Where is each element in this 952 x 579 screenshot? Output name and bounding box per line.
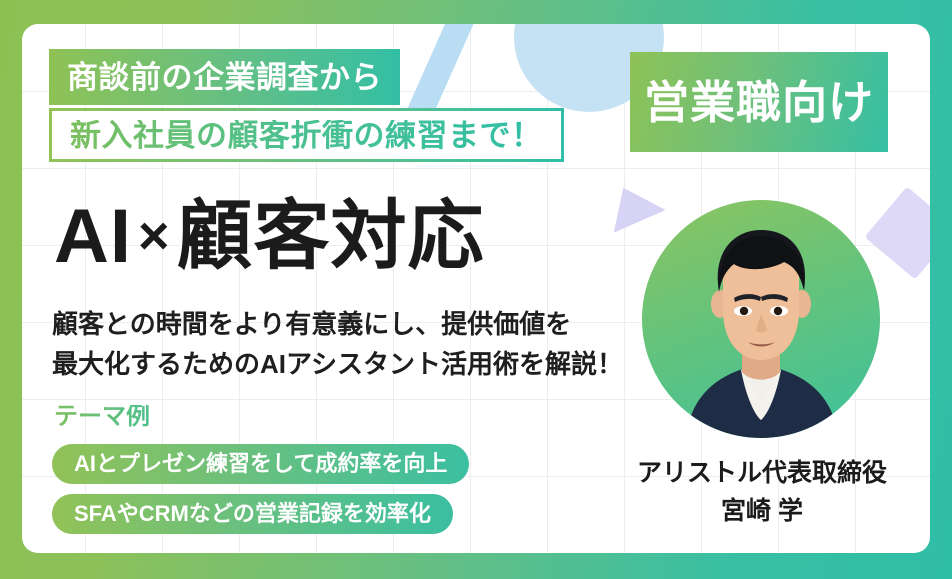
promo-banner: 商談前の企業調査から 新入社員の顧客折衝の練習まで！ 営業職向け AI×顧客対応…	[0, 0, 952, 579]
banner-card: 商談前の企業調査から 新入社員の顧客折衝の練習まで！ 営業職向け AI×顧客対応…	[22, 24, 930, 553]
headline-prefix: AI	[54, 194, 132, 279]
audience-badge: 営業職向け	[630, 52, 888, 152]
subtitle: 顧客との時間をより有意義にし、提供価値を 最大化するためのAIアシスタント活用術…	[52, 305, 623, 384]
theme-pill-label: SFAやCRMなどの営業記録を効率化	[74, 503, 431, 525]
subtitle-line-1: 顧客との時間をより有意義にし、提供価値を	[52, 305, 623, 345]
theme-section-label: テーマ例	[54, 405, 150, 429]
speaker-avatar	[642, 200, 880, 438]
tag-primary-label: 商談前の企業調査から	[67, 62, 382, 93]
tag-secondary: 新入社員の顧客折衝の練習まで！	[49, 108, 564, 162]
speaker-role: アリストル代表取締役	[622, 458, 902, 488]
speaker-name: 宮崎 学	[622, 496, 902, 526]
subtitle-line-2: 最大化するためのAIアシスタント活用術を解説！	[52, 345, 623, 385]
tag-primary: 商談前の企業調査から	[49, 49, 400, 105]
page-title: AI×顧客対応	[54, 199, 485, 275]
theme-pill: SFAやCRMなどの営業記録を効率化	[52, 494, 453, 534]
headline-suffix: 顧客対応	[177, 194, 485, 279]
tag-secondary-label: 新入社員の顧客折衝の練習まで！	[70, 120, 543, 151]
audience-badge-label: 営業職向け	[644, 80, 874, 125]
theme-pill-label: AIとプレゼン練習をして成約率を向上	[74, 453, 447, 475]
theme-pill: AIとプレゼン練習をして成約率を向上	[52, 444, 469, 484]
multiply-icon: ×	[138, 206, 171, 266]
